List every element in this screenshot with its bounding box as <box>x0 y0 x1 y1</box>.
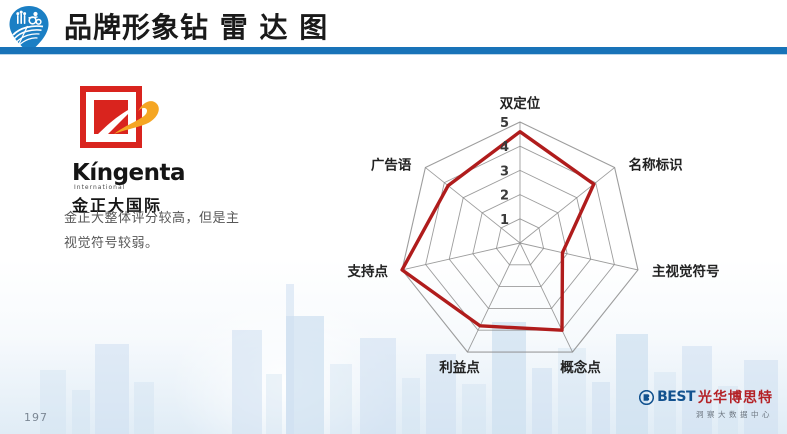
footer-brand-tagline: 洞察大数据中心 <box>639 409 773 420</box>
radar-tick-label: 1 <box>500 213 509 228</box>
radar-axis-label: 广告语 <box>371 157 412 174</box>
page-title: 品牌形象钻 雷 达 图 <box>64 6 328 46</box>
radar-axis-label: 支持点 <box>347 263 389 280</box>
radar-tick-label: 5 <box>500 116 509 131</box>
best-circle-icon <box>639 390 654 405</box>
radar-tick-label: 4 <box>500 140 509 155</box>
footer-brand: BEST 光华博思特 洞察大数据中心 <box>639 387 773 420</box>
radar-tick-label: 3 <box>500 164 509 179</box>
brand-description-text: 金正大整体评分较高，但是主视觉符号较弱。 <box>64 206 249 256</box>
radar-axis-label: 名称标识 <box>629 157 683 174</box>
brand-logo-name: Kíngenta <box>72 160 252 186</box>
brand-image-radar-chart: 12345双定位名称标识主视觉符号概念点利益点支持点广告语 <box>330 80 750 380</box>
radar-axis-spoke <box>468 243 520 352</box>
radar-axis-label: 利益点 <box>439 359 480 376</box>
kingenta-square-logo-icon <box>78 82 164 154</box>
radar-tick-label: 2 <box>500 189 509 204</box>
header-accent-bar <box>0 47 787 54</box>
radar-axis-label: 双定位 <box>500 95 541 112</box>
slide-header: 品牌形象钻 雷 达 图 <box>0 0 787 56</box>
radar-chart-svg: 12345双定位名称标识主视觉符号概念点利益点支持点广告语 <box>330 80 750 380</box>
page-number: 197 <box>24 411 48 424</box>
brand-logo-block: Kíngenta International 金正大国际 <box>72 82 252 216</box>
slide-canvas: 品牌形象钻 雷 达 图 Kíngenta International 金正大国际… <box>0 0 787 434</box>
footer-brand-mark: BEST <box>657 389 695 405</box>
radar-series-polygon <box>402 132 594 331</box>
footer-brand-name: 光华博思特 <box>698 387 773 407</box>
radar-axis-label: 概念点 <box>560 359 601 376</box>
radar-axis-label: 主视觉符号 <box>652 263 720 280</box>
radar-axis-spoke <box>520 243 572 352</box>
